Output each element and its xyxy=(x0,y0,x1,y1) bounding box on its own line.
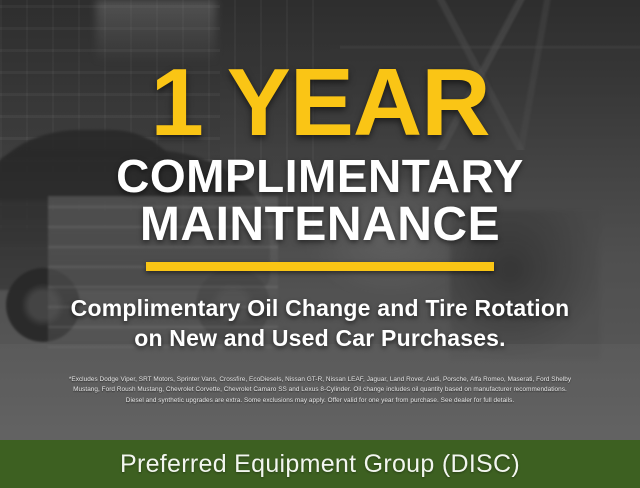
legal-disclaimer-line-1: *Excludes Dodge Viper, SRT Motors, Sprin… xyxy=(10,375,630,385)
promo-banner: 1 YEAR COMPLIMENTARY MAINTENANCE Complim… xyxy=(0,0,640,488)
legal-disclaimer-line-2: Mustang, Ford Roush Mustang, Chevrolet C… xyxy=(10,385,630,395)
promo-tagline-line-1: Complimentary Oil Change and Tire Rotati… xyxy=(71,293,570,324)
promo-tagline: Complimentary Oil Change and Tire Rotati… xyxy=(71,293,570,354)
legal-disclaimer: *Excludes Dodge Viper, SRT Motors, Sprin… xyxy=(0,375,640,406)
promo-subtitle-line-2: MAINTENANCE xyxy=(140,202,500,248)
banner-content: 1 YEAR COMPLIMENTARY MAINTENANCE Complim… xyxy=(0,0,640,440)
footer-caption-bar: Preferred Equipment Group (DISC) xyxy=(0,440,640,488)
promo-headline: 1 YEAR xyxy=(150,62,489,145)
promo-subtitle-line-1: COMPLIMENTARY xyxy=(116,155,524,199)
promo-tagline-line-2: on New and Used Car Purchases. xyxy=(71,323,570,354)
legal-disclaimer-line-3: Diesel and synthetic upgrades are extra.… xyxy=(10,396,630,406)
yellow-divider-bar xyxy=(146,262,494,271)
footer-caption-text: Preferred Equipment Group (DISC) xyxy=(120,450,520,479)
